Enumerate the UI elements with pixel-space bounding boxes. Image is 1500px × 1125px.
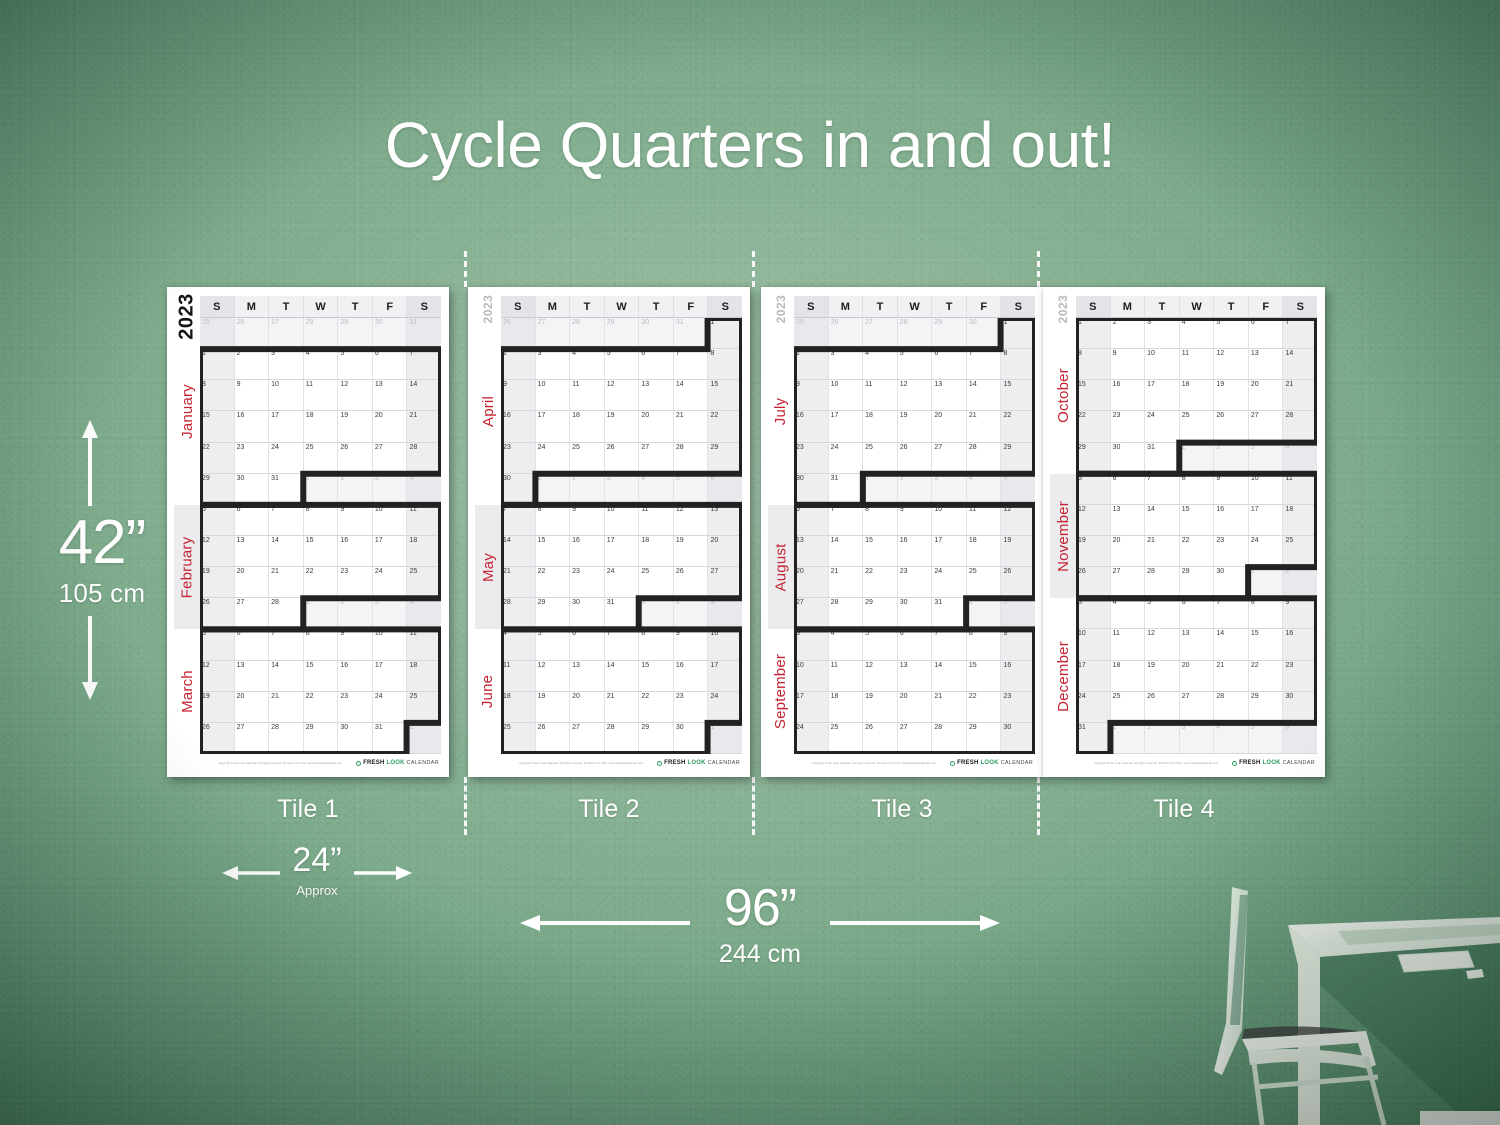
day-cell[interactable]: 23 <box>794 443 828 473</box>
day-cell[interactable]: 6 <box>794 505 828 535</box>
day-cell[interactable]: 15 <box>1179 505 1214 535</box>
day-cell[interactable]: 2 <box>673 598 708 628</box>
day-cell[interactable]: 9 <box>501 380 535 410</box>
day-cell[interactable]: 15 <box>1248 629 1283 659</box>
day-cell[interactable]: 15 <box>862 536 897 566</box>
day-cell[interactable]: 10 <box>372 505 407 535</box>
day-cell[interactable]: 5 <box>535 629 570 659</box>
day-cell[interactable]: 12 <box>535 661 570 691</box>
day-cell[interactable]: 26 <box>897 443 932 473</box>
day-cell[interactable]: 18 <box>1179 380 1214 410</box>
day-cell[interactable]: 31 <box>604 598 639 628</box>
day-cell[interactable]: 14 <box>1282 349 1317 379</box>
day-cell[interactable]: 30 <box>794 474 828 504</box>
day-cell[interactable]: 3 <box>828 349 863 379</box>
day-cell[interactable]: 7 <box>1144 474 1179 504</box>
day-cell[interactable]: 18 <box>862 411 897 441</box>
day-cell[interactable]: 11 <box>303 380 338 410</box>
day-cell[interactable]: 23 <box>1213 536 1248 566</box>
day-cell[interactable]: 2 <box>1282 567 1317 597</box>
day-cell[interactable]: 21 <box>406 411 441 441</box>
day-cell[interactable]: 17 <box>794 692 828 722</box>
day-cell[interactable]: 8 <box>1248 598 1283 628</box>
day-cell[interactable]: 28 <box>897 318 932 348</box>
day-cell[interactable]: 25 <box>501 723 535 753</box>
day-cell[interactable]: 13 <box>234 536 269 566</box>
day-cell[interactable]: 4 <box>569 349 604 379</box>
day-cell[interactable]: 16 <box>1282 629 1317 659</box>
day-cell[interactable]: 17 <box>828 411 863 441</box>
day-cell[interactable]: 28 <box>673 443 708 473</box>
day-cell[interactable]: 25 <box>406 567 441 597</box>
day-cell[interactable]: 20 <box>1110 536 1145 566</box>
day-cell[interactable]: 3 <box>707 598 742 628</box>
day-cell[interactable]: 20 <box>1179 661 1214 691</box>
day-cell[interactable]: 2 <box>234 349 269 379</box>
day-cell[interactable]: 19 <box>1213 380 1248 410</box>
day-cell[interactable]: 10 <box>931 505 966 535</box>
day-cell[interactable]: 20 <box>897 692 932 722</box>
day-cell[interactable]: 23 <box>569 567 604 597</box>
day-cell[interactable]: 2 <box>569 474 604 504</box>
day-cell[interactable]: 20 <box>234 567 269 597</box>
day-cell[interactable]: 3 <box>1248 443 1283 473</box>
day-cell[interactable]: 17 <box>268 411 303 441</box>
day-cell[interactable]: 28 <box>268 723 303 753</box>
day-cell[interactable]: 15 <box>200 411 234 441</box>
day-cell[interactable]: 14 <box>931 661 966 691</box>
day-cell[interactable]: 13 <box>569 661 604 691</box>
day-cell[interactable]: 26 <box>862 723 897 753</box>
day-cell[interactable]: 7 <box>966 349 1001 379</box>
day-cell[interactable]: 29 <box>604 318 639 348</box>
day-cell[interactable]: 10 <box>268 380 303 410</box>
day-cell[interactable]: 17 <box>372 661 407 691</box>
day-cell[interactable]: 22 <box>862 567 897 597</box>
day-cell[interactable]: 5 <box>337 349 372 379</box>
day-cell[interactable]: 11 <box>1282 474 1317 504</box>
day-cell[interactable]: 4 <box>1213 723 1248 753</box>
day-cell[interactable]: 11 <box>501 661 535 691</box>
day-cell[interactable]: 12 <box>1213 349 1248 379</box>
day-cell[interactable]: 25 <box>638 567 673 597</box>
day-cell[interactable]: 16 <box>501 411 535 441</box>
day-cell[interactable]: 21 <box>931 692 966 722</box>
day-cell[interactable]: 20 <box>372 411 407 441</box>
day-cell[interactable]: 8 <box>535 505 570 535</box>
day-cell[interactable]: 29 <box>1248 692 1283 722</box>
day-cell[interactable]: 13 <box>234 661 269 691</box>
day-cell[interactable]: 27 <box>234 723 269 753</box>
day-cell[interactable]: 3 <box>1179 723 1214 753</box>
day-cell[interactable]: 12 <box>673 505 708 535</box>
day-cell[interactable]: 9 <box>673 629 708 659</box>
day-cell[interactable]: 29 <box>1000 443 1035 473</box>
day-cell[interactable]: 11 <box>1179 349 1214 379</box>
day-cell[interactable]: 19 <box>1000 536 1035 566</box>
day-cell[interactable]: 8 <box>638 629 673 659</box>
day-cell[interactable]: 27 <box>862 318 897 348</box>
day-cell[interactable]: 11 <box>569 380 604 410</box>
day-cell[interactable]: 27 <box>638 443 673 473</box>
calendar-tile-1[interactable]: 2023JanuaryFebruaryMarchSMTWTFS252627282… <box>167 287 449 777</box>
day-cell[interactable]: 1 <box>1000 318 1035 348</box>
day-cell[interactable]: 1 <box>862 474 897 504</box>
day-cell[interactable]: 15 <box>966 661 1001 691</box>
day-cell[interactable]: 5 <box>1076 474 1110 504</box>
day-cell[interactable]: 8 <box>966 629 1001 659</box>
day-cell[interactable]: 13 <box>372 380 407 410</box>
calendar-tile-2[interactable]: 2023AprilMayJuneSMTWTFS26272829303112345… <box>468 287 750 777</box>
day-cell[interactable]: 15 <box>303 661 338 691</box>
day-cell[interactable]: 27 <box>794 598 828 628</box>
day-cell[interactable]: 18 <box>501 692 535 722</box>
day-cell[interactable]: 6 <box>1248 318 1283 348</box>
day-cell[interactable]: 22 <box>303 692 338 722</box>
day-cell[interactable]: 1 <box>200 349 234 379</box>
day-cell[interactable]: 12 <box>1000 505 1035 535</box>
day-cell[interactable]: 5 <box>200 505 234 535</box>
day-cell[interactable]: 19 <box>604 411 639 441</box>
day-cell[interactable]: 12 <box>862 661 897 691</box>
day-cell[interactable]: 26 <box>673 567 708 597</box>
day-cell[interactable]: 28 <box>501 598 535 628</box>
day-cell[interactable]: 24 <box>828 443 863 473</box>
day-cell[interactable]: 18 <box>966 536 1001 566</box>
day-cell[interactable]: 9 <box>1282 598 1317 628</box>
day-cell[interactable]: 10 <box>1144 349 1179 379</box>
day-cell[interactable]: 29 <box>638 723 673 753</box>
day-cell[interactable]: 12 <box>337 380 372 410</box>
day-cell[interactable]: 27 <box>372 443 407 473</box>
day-cell[interactable]: 20 <box>707 536 742 566</box>
day-cell[interactable]: 7 <box>268 629 303 659</box>
day-cell[interactable]: 30 <box>1110 443 1145 473</box>
day-cell[interactable]: 13 <box>707 505 742 535</box>
day-cell[interactable]: 7 <box>604 629 639 659</box>
day-cell[interactable]: 29 <box>1076 443 1110 473</box>
day-cell[interactable]: 23 <box>234 443 269 473</box>
day-cell[interactable]: 15 <box>1076 380 1110 410</box>
day-cell[interactable]: 30 <box>372 318 407 348</box>
day-cell[interactable]: 12 <box>200 661 234 691</box>
day-cell[interactable]: 26 <box>1000 567 1035 597</box>
day-cell[interactable]: 8 <box>200 380 234 410</box>
day-cell[interactable]: 18 <box>638 536 673 566</box>
day-cell[interactable]: 24 <box>372 692 407 722</box>
day-cell[interactable]: 18 <box>303 411 338 441</box>
day-cell[interactable]: 14 <box>604 661 639 691</box>
day-cell[interactable]: 24 <box>372 567 407 597</box>
day-cell[interactable]: 25 <box>1110 692 1145 722</box>
day-cell[interactable]: 19 <box>1076 536 1110 566</box>
day-cell[interactable]: 7 <box>406 349 441 379</box>
day-cell[interactable]: 13 <box>794 536 828 566</box>
day-cell[interactable]: 31 <box>673 318 708 348</box>
day-cell[interactable]: 10 <box>828 380 863 410</box>
day-cell[interactable]: 14 <box>828 536 863 566</box>
day-cell[interactable]: 22 <box>1000 411 1035 441</box>
day-cell[interactable]: 5 <box>1000 474 1035 504</box>
day-cell[interactable]: 27 <box>707 567 742 597</box>
day-cell[interactable]: 25 <box>569 443 604 473</box>
day-cell[interactable]: 1 <box>638 598 673 628</box>
day-cell[interactable]: 5 <box>897 349 932 379</box>
day-cell[interactable]: 30 <box>638 318 673 348</box>
day-cell[interactable]: 20 <box>1248 380 1283 410</box>
day-cell[interactable]: 24 <box>604 567 639 597</box>
day-cell[interactable]: 3 <box>535 349 570 379</box>
day-cell[interactable]: 23 <box>1282 661 1317 691</box>
day-cell[interactable]: 16 <box>337 536 372 566</box>
day-cell[interactable]: 28 <box>966 443 1001 473</box>
day-cell[interactable]: 21 <box>673 411 708 441</box>
day-cell[interactable]: 17 <box>604 536 639 566</box>
day-cell[interactable]: 16 <box>1000 661 1035 691</box>
day-cell[interactable]: 25 <box>303 443 338 473</box>
day-cell[interactable]: 6 <box>234 505 269 535</box>
day-cell[interactable]: 1 <box>1179 443 1214 473</box>
day-cell[interactable]: 22 <box>1248 661 1283 691</box>
day-cell[interactable]: 2 <box>1213 443 1248 473</box>
day-cell[interactable]: 29 <box>931 318 966 348</box>
day-cell[interactable]: 14 <box>268 536 303 566</box>
day-cell[interactable]: 30 <box>569 598 604 628</box>
day-cell[interactable]: 24 <box>707 692 742 722</box>
day-cell[interactable]: 26 <box>200 723 234 753</box>
day-cell[interactable]: 9 <box>1213 474 1248 504</box>
day-cell[interactable]: 18 <box>406 661 441 691</box>
day-cell[interactable]: 7 <box>1282 318 1317 348</box>
day-cell[interactable]: 25 <box>1179 411 1214 441</box>
day-cell[interactable]: 14 <box>673 380 708 410</box>
day-cell[interactable]: 26 <box>1213 411 1248 441</box>
day-cell[interactable]: 10 <box>535 380 570 410</box>
day-cell[interactable]: 4 <box>501 629 535 659</box>
day-cell[interactable]: 16 <box>897 536 932 566</box>
day-cell[interactable]: 11 <box>828 661 863 691</box>
day-cell[interactable]: 1 <box>707 723 742 753</box>
day-cell[interactable]: 29 <box>337 318 372 348</box>
day-cell[interactable]: 18 <box>828 692 863 722</box>
day-cell[interactable]: 3 <box>372 598 407 628</box>
day-cell[interactable]: 19 <box>862 692 897 722</box>
day-cell[interactable]: 3 <box>604 474 639 504</box>
day-cell[interactable]: 17 <box>1144 380 1179 410</box>
day-cell[interactable]: 3 <box>794 629 828 659</box>
day-cell[interactable]: 16 <box>337 661 372 691</box>
day-cell[interactable]: 17 <box>535 411 570 441</box>
day-cell[interactable]: 30 <box>966 318 1001 348</box>
day-cell[interactable]: 10 <box>707 629 742 659</box>
day-cell[interactable]: 19 <box>200 692 234 722</box>
day-cell[interactable]: 4 <box>638 474 673 504</box>
day-cell[interactable]: 7 <box>501 505 535 535</box>
day-cell[interactable]: 18 <box>1282 505 1317 535</box>
day-cell[interactable]: 28 <box>268 598 303 628</box>
day-cell[interactable]: 5 <box>1213 318 1248 348</box>
day-cell[interactable]: 3 <box>1076 598 1110 628</box>
day-cell[interactable]: 10 <box>372 629 407 659</box>
day-cell[interactable]: 10 <box>794 661 828 691</box>
day-cell[interactable]: 19 <box>673 536 708 566</box>
day-cell[interactable]: 29 <box>200 474 234 504</box>
day-cell[interactable]: 22 <box>1179 536 1214 566</box>
day-cell[interactable]: 31 <box>406 318 441 348</box>
day-cell[interactable]: 5 <box>1144 598 1179 628</box>
day-cell[interactable]: 31 <box>1076 723 1110 753</box>
day-cell[interactable]: 4 <box>1282 443 1317 473</box>
day-cell[interactable]: 14 <box>966 380 1001 410</box>
day-cell[interactable]: 30 <box>337 723 372 753</box>
day-cell[interactable]: 9 <box>234 380 269 410</box>
day-cell[interactable]: 7 <box>931 629 966 659</box>
day-cell[interactable]: 30 <box>673 723 708 753</box>
day-cell[interactable]: 17 <box>1076 661 1110 691</box>
day-cell[interactable]: 14 <box>268 661 303 691</box>
day-cell[interactable]: 30 <box>1000 723 1035 753</box>
day-cell[interactable]: 27 <box>569 723 604 753</box>
day-cell[interactable]: 7 <box>673 349 708 379</box>
day-cell[interactable]: 16 <box>1110 380 1145 410</box>
day-cell[interactable]: 11 <box>862 380 897 410</box>
day-cell[interactable]: 7 <box>828 505 863 535</box>
day-cell[interactable]: 14 <box>406 380 441 410</box>
day-cell[interactable]: 24 <box>1076 692 1110 722</box>
day-cell[interactable]: 24 <box>268 443 303 473</box>
day-cell[interactable]: 17 <box>372 536 407 566</box>
day-cell[interactable]: 28 <box>604 723 639 753</box>
day-cell[interactable]: 14 <box>501 536 535 566</box>
day-cell[interactable]: 17 <box>707 661 742 691</box>
day-cell[interactable]: 21 <box>501 567 535 597</box>
calendar-tile-4[interactable]: 2023OctoberNovemberDecemberSMTWTFS123456… <box>1043 287 1325 777</box>
day-cell[interactable]: 18 <box>1110 661 1145 691</box>
day-cell[interactable]: 26 <box>501 318 535 348</box>
day-cell[interactable]: 13 <box>1248 349 1283 379</box>
day-cell[interactable]: 21 <box>268 692 303 722</box>
day-cell[interactable]: 6 <box>638 349 673 379</box>
day-cell[interactable]: 31 <box>828 474 863 504</box>
day-cell[interactable]: 25 <box>200 318 234 348</box>
day-cell[interactable]: 30 <box>897 598 932 628</box>
day-cell[interactable]: 31 <box>268 474 303 504</box>
day-cell[interactable]: 31 <box>1144 443 1179 473</box>
day-cell[interactable]: 6 <box>707 474 742 504</box>
day-cell[interactable]: 13 <box>931 380 966 410</box>
day-cell[interactable]: 5 <box>200 629 234 659</box>
day-cell[interactable]: 27 <box>234 598 269 628</box>
day-cell[interactable]: 3 <box>1144 318 1179 348</box>
day-cell[interactable]: 15 <box>638 661 673 691</box>
day-cell[interactable]: 11 <box>638 505 673 535</box>
day-cell[interactable]: 16 <box>794 411 828 441</box>
day-cell[interactable]: 9 <box>1000 629 1035 659</box>
day-cell[interactable]: 21 <box>1282 380 1317 410</box>
day-cell[interactable]: 22 <box>638 692 673 722</box>
day-cell[interactable]: 16 <box>673 661 708 691</box>
day-cell[interactable]: 15 <box>535 536 570 566</box>
day-cell[interactable]: 9 <box>337 505 372 535</box>
day-cell[interactable]: 4 <box>828 629 863 659</box>
day-cell[interactable]: 30 <box>1282 692 1317 722</box>
day-cell[interactable]: 10 <box>1076 629 1110 659</box>
day-cell[interactable]: 9 <box>337 629 372 659</box>
day-cell[interactable]: 29 <box>707 443 742 473</box>
day-cell[interactable]: 4 <box>966 474 1001 504</box>
day-cell[interactable]: 26 <box>200 598 234 628</box>
day-cell[interactable]: 13 <box>1179 629 1214 659</box>
day-cell[interactable]: 3 <box>372 474 407 504</box>
day-cell[interactable]: 29 <box>1179 567 1214 597</box>
day-cell[interactable]: 5 <box>1248 723 1283 753</box>
day-cell[interactable]: 6 <box>1110 474 1145 504</box>
day-cell[interactable]: 20 <box>569 692 604 722</box>
day-cell[interactable]: 28 <box>1282 411 1317 441</box>
day-cell[interactable]: 3 <box>268 349 303 379</box>
day-cell[interactable]: 29 <box>862 598 897 628</box>
day-cell[interactable]: 23 <box>337 692 372 722</box>
day-cell[interactable]: 24 <box>931 567 966 597</box>
day-cell[interactable]: 1 <box>1248 567 1283 597</box>
day-cell[interactable]: 28 <box>828 598 863 628</box>
day-cell[interactable]: 11 <box>406 505 441 535</box>
day-cell[interactable]: 18 <box>569 411 604 441</box>
day-cell[interactable]: 21 <box>1144 536 1179 566</box>
day-cell[interactable]: 5 <box>673 474 708 504</box>
day-cell[interactable]: 19 <box>897 411 932 441</box>
day-cell[interactable]: 25 <box>794 318 828 348</box>
day-cell[interactable]: 6 <box>569 629 604 659</box>
day-cell[interactable]: 23 <box>337 567 372 597</box>
day-cell[interactable]: 6 <box>931 349 966 379</box>
day-cell[interactable]: 19 <box>1144 661 1179 691</box>
day-cell[interactable]: 12 <box>897 380 932 410</box>
day-cell[interactable]: 27 <box>1248 411 1283 441</box>
day-cell[interactable]: 14 <box>1144 505 1179 535</box>
day-cell[interactable]: 23 <box>501 443 535 473</box>
day-cell[interactable]: 16 <box>1213 505 1248 535</box>
day-cell[interactable]: 29 <box>966 723 1001 753</box>
day-cell[interactable]: 10 <box>1248 474 1283 504</box>
day-cell[interactable]: 14 <box>1213 629 1248 659</box>
day-cell[interactable]: 1 <box>1110 723 1145 753</box>
day-cell[interactable]: 25 <box>828 723 863 753</box>
day-cell[interactable]: 20 <box>931 411 966 441</box>
calendar-tile-3[interactable]: 2023JulyAugustSeptemberSMTWTFS2526272829… <box>761 287 1043 777</box>
day-cell[interactable]: 21 <box>828 567 863 597</box>
day-cell[interactable]: 31 <box>372 723 407 753</box>
day-cell[interactable]: 27 <box>931 443 966 473</box>
day-cell[interactable]: 20 <box>794 567 828 597</box>
day-cell[interactable]: 20 <box>234 692 269 722</box>
day-cell[interactable]: 19 <box>535 692 570 722</box>
day-cell[interactable]: 15 <box>1000 380 1035 410</box>
day-cell[interactable]: 29 <box>535 598 570 628</box>
day-cell[interactable]: 4 <box>862 349 897 379</box>
day-cell[interactable]: 21 <box>1213 661 1248 691</box>
day-cell[interactable]: 10 <box>604 505 639 535</box>
day-cell[interactable]: 9 <box>569 505 604 535</box>
day-cell[interactable]: 4 <box>406 598 441 628</box>
day-cell[interactable]: 22 <box>535 567 570 597</box>
day-cell[interactable]: 8 <box>707 349 742 379</box>
day-cell[interactable]: 4 <box>1179 318 1214 348</box>
day-cell[interactable]: 12 <box>200 536 234 566</box>
day-cell[interactable]: 6 <box>897 629 932 659</box>
day-cell[interactable]: 1 <box>535 474 570 504</box>
day-cell[interactable]: 25 <box>862 443 897 473</box>
